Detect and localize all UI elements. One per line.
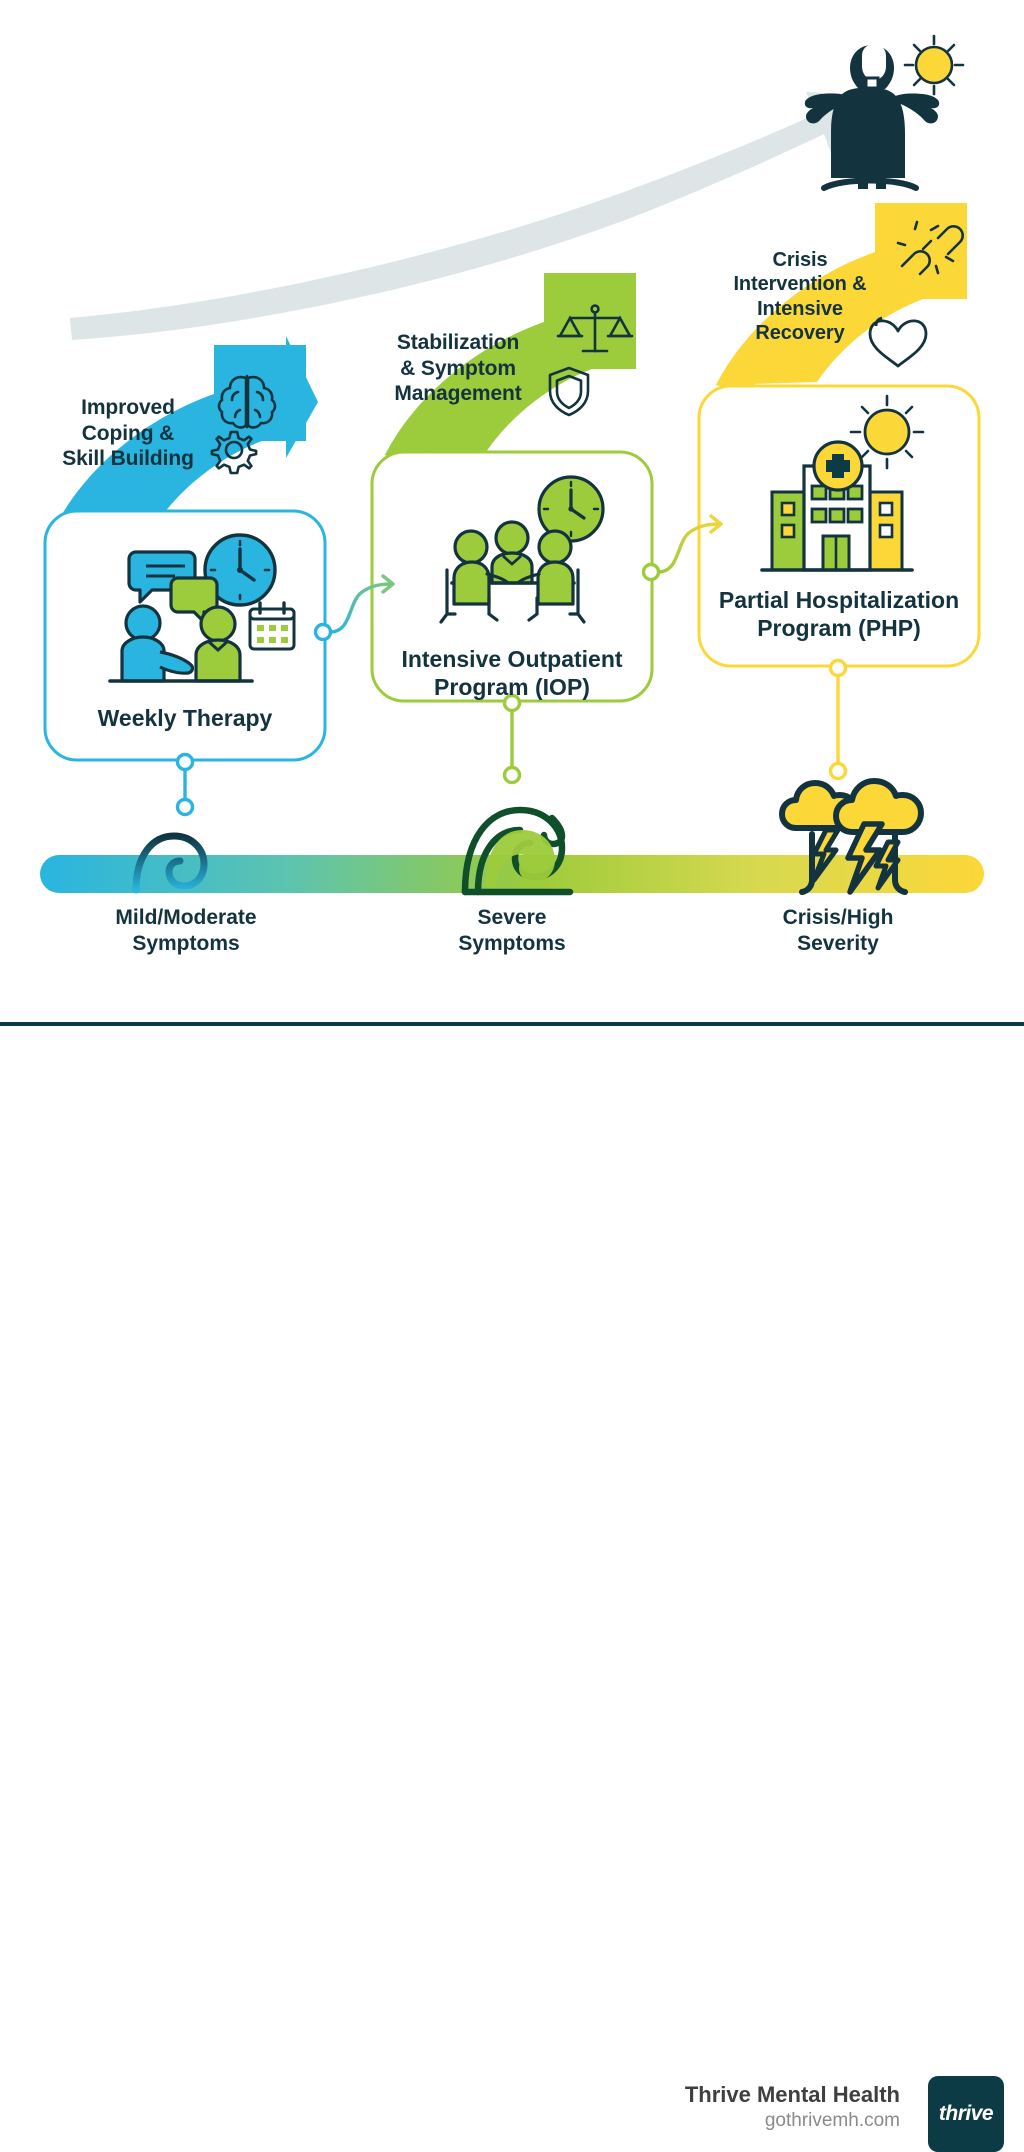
medical-cross-icon: [814, 442, 862, 490]
footer-brand-block: Thrive Mental Health gothrivemh.com: [685, 2081, 900, 2133]
brand-name: Thrive Mental Health: [685, 2081, 900, 2109]
stem-php: [831, 661, 846, 779]
arrow-label-improved-coping: Improved Coping & Skill Building: [48, 395, 208, 472]
arrow-label-stabilization: Stabilization & Symptom Management: [378, 330, 538, 407]
severity-label-crisis-high: Crisis/High Severity: [738, 905, 938, 956]
infographic-graphics: [0, 0, 1024, 1154]
footer: Thrive Mental Health gothrivemh.com thri…: [0, 1026, 1024, 1154]
severity-label-severe: Severe Symptoms: [412, 905, 612, 956]
card-title-php: Partial Hospitalization Program (PHP): [696, 587, 982, 642]
thrive-logo-text: thrive: [928, 2076, 1004, 2152]
heart-icon: [870, 318, 926, 366]
card-title-iop: Intensive Outpatient Program (IOP): [372, 646, 652, 701]
stem-iop: [505, 696, 520, 783]
arrow-label-crisis-intervention: Crisis Intervention & Intensive Recovery: [730, 248, 870, 346]
sun-icon: [905, 36, 963, 94]
infographic-canvas: Improved Coping & Skill Building Stabili…: [0, 0, 1024, 1154]
card-title-weekly-therapy: Weekly Therapy: [45, 705, 325, 733]
stem-weekly: [178, 755, 193, 815]
severity-label-mild-moderate: Mild/Moderate Symptoms: [86, 905, 286, 956]
calendar-icon: [250, 603, 294, 649]
thrive-logo[interactable]: thrive: [928, 2076, 1004, 2152]
brand-url: gothrivemh.com: [685, 2109, 900, 2134]
